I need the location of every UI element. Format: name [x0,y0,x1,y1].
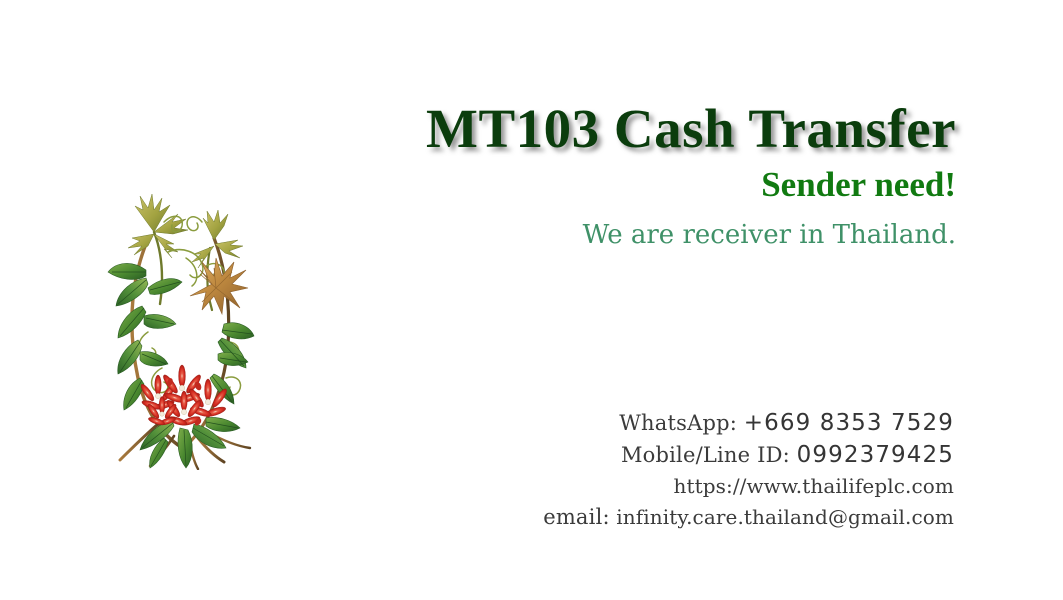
email-label: email: [543,505,610,529]
contact-details-block: WhatsApp: +669 8353 7529 Mobile/Line ID:… [420,407,954,533]
page-subtitle: Sender need! [300,167,956,204]
poster-canvas: MT103 Cash Transfer Sender need! We are … [0,0,1063,600]
contact-line-whatsapp: WhatsApp: +669 8353 7529 [420,407,954,439]
contact-line-email: email: infinity.care.thailand@gmail.com [420,502,954,533]
page-title: MT103 Cash Transfer [300,100,956,157]
contact-line-website: https://www.thailifeplc.com [420,471,954,502]
website-url[interactable]: https://www.thailifeplc.com [673,474,954,498]
mobile-line-id-number[interactable]: 0992379425 [797,442,954,468]
page-tagline: We are receiver in Thailand. [300,221,956,250]
whatsapp-label: WhatsApp: [619,411,737,435]
whatsapp-number[interactable]: +669 8353 7529 [744,410,954,436]
email-address[interactable]: infinity.care.thailand@gmail.com [616,505,954,529]
mobile-line-id-label: Mobile/Line ID: [621,443,790,467]
headline-block: MT103 Cash Transfer Sender need! We are … [300,100,956,250]
contact-line-mobile: Mobile/Line ID: 0992379425 [420,439,954,471]
leaves-right [210,323,254,404]
botanical-vine-wreath-illustration [102,192,260,470]
